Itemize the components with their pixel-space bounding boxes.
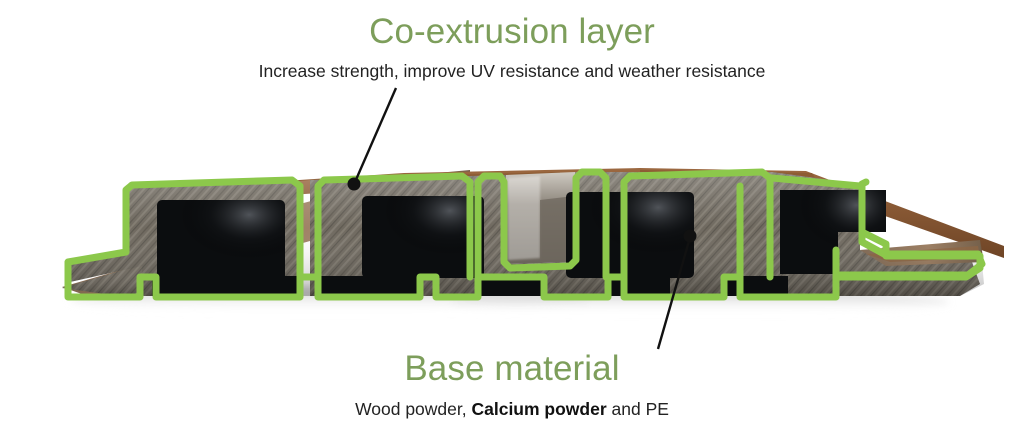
base-material-subtitle-bold: Calcium powder xyxy=(471,399,606,419)
under-channel-2 xyxy=(318,276,418,296)
leader-dot-base-material xyxy=(684,230,697,243)
leader-dot-co-extrusion xyxy=(348,178,361,191)
base-material-subtitle-before: Wood powder, xyxy=(355,399,471,419)
base-material-subtitle-after: and PE xyxy=(607,399,669,419)
figure-canvas: Co-extrusion layer Increase strength, im… xyxy=(0,0,1024,446)
under-channel-1 xyxy=(152,276,300,296)
callout-co-extrusion: Co-extrusion layer Increase strength, im… xyxy=(0,12,1024,81)
co-extrusion-subtitle: Increase strength, improve UV resistance… xyxy=(0,61,1024,81)
co-extrusion-title: Co-extrusion layer xyxy=(0,12,1024,52)
base-material-subtitle: Wood powder, Calcium powder and PE xyxy=(0,399,1024,419)
center-groove xyxy=(506,172,575,264)
callout-base-material: Base material Wood powder, Calcium powde… xyxy=(0,349,1024,419)
base-material-title: Base material xyxy=(0,349,1024,389)
